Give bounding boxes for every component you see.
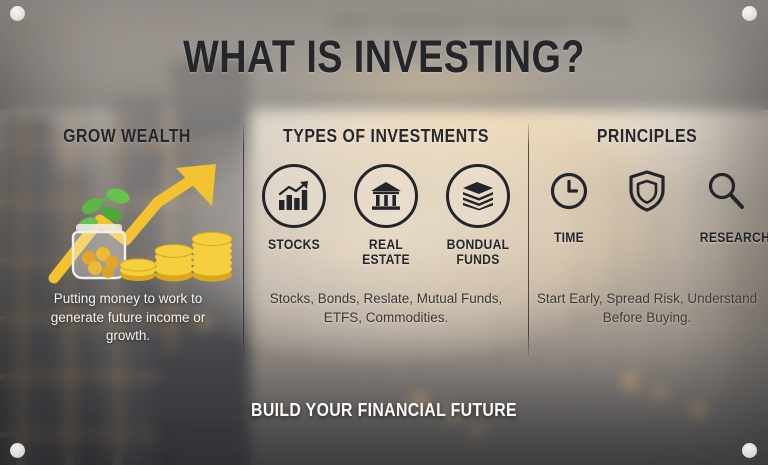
investing-infographic-poster: WHAT IS INVESTING? GROW WEALTH [0,0,768,465]
column-body-grow-wealth: Putting money to work to generate future… [28,290,228,346]
coin-jar-with-sprout-and-rising-arrow-illustration [26,162,236,284]
magnifier-icon [697,166,753,216]
investment-type-label: STOCKS [260,237,328,252]
coin-stacks-icon [120,232,232,281]
footer-tagline: BUILD YOUR FINANCIAL FUTURE [46,400,722,421]
column-body-principles: Start Early, Spread Risk, Understand Bef… [536,290,758,327]
coin-stack-small [120,259,156,281]
corner-dot-top-right [742,6,757,21]
principle-research[interactable]: RESEARCH [697,166,753,245]
principle-time[interactable]: TIME [541,166,597,245]
principle-icon-row: TIME [536,166,758,245]
bar-chart-arrow-icon [262,164,326,228]
bank-building-icon [354,164,418,228]
column-principles: PRINCIPLES TIME [536,126,758,147]
clock-icon [541,166,597,216]
corner-dot-bottom-left [10,443,25,458]
shield-icon [619,166,675,216]
investment-type-bondual-funds[interactable]: BONDUAL FUNDS [440,164,516,267]
stacked-papers-icon [446,164,510,228]
column-heading-types-of-investments: TYPES OF INVESTMENTS [266,126,505,147]
investment-type-label: BONDUAL FUNDS [444,237,512,267]
coin-stack-medium [155,245,193,282]
column-grow-wealth: GROW WEALTH [18,126,236,147]
principle-label: TIME [544,230,594,245]
principle-spread-risk[interactable] [619,166,675,245]
investment-type-label: REAL ESTATE [352,237,420,267]
coin-stack-large [192,232,232,281]
corner-dot-top-left [10,6,25,21]
investment-type-icon-row: STOCKS REAL ESTATE [250,164,522,267]
column-divider-left [243,124,244,356]
column-divider-right [528,124,529,356]
column-types-of-investments: TYPES OF INVESTMENTS STOCKS [250,126,522,147]
investment-type-stocks[interactable]: STOCKS [256,164,332,267]
column-body-types-of-investments: Stocks, Bonds, Reslate, Mutual Funds, ET… [250,290,522,327]
investment-type-real-estate[interactable]: REAL ESTATE [348,164,424,267]
column-heading-principles: PRINCIPLES [549,126,744,147]
page-title: WHAT IS INVESTING? [61,34,706,79]
column-heading-grow-wealth: GROW WEALTH [31,126,223,147]
corner-dot-bottom-right [742,443,757,458]
principle-label: RESEARCH [700,230,750,245]
